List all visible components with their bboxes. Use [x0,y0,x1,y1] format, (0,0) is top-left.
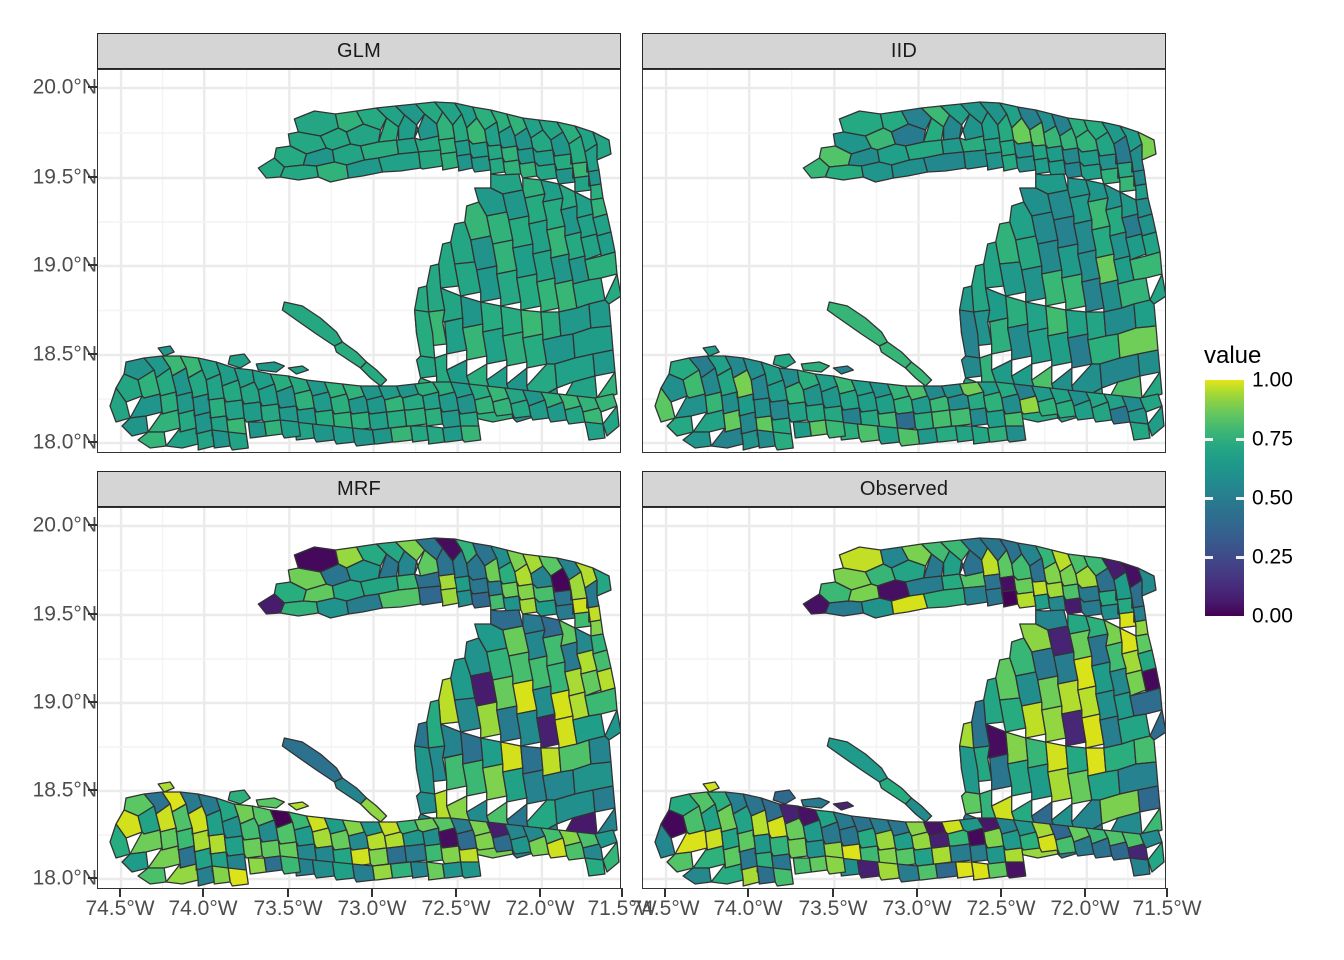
x-axis-tick-mark [1166,888,1168,897]
x-axis-right-column: 74.5°W74.0°W73.5°W73.0°W72.5°W72.0°W71.5… [0,0,1344,960]
legend-tick-label: 0.50 [1252,488,1293,509]
legend: value [1202,344,1342,618]
x-axis-tick-mark [1084,888,1086,897]
x-axis-tick-mark [747,888,749,897]
legend-tick-label: 0.00 [1252,606,1293,627]
legend-tick-label: 0.75 [1252,429,1293,450]
x-axis-tick-label: 73.5°W [798,898,867,919]
x-axis-tick-mark [1000,888,1002,897]
x-axis-tick-label: 71.5°W [1132,898,1201,919]
legend-tick-mark [1236,438,1244,441]
x-axis-tick-mark [832,888,834,897]
x-axis-tick-label: 74.5°W [630,898,699,919]
legend-tick-mark [1236,556,1244,559]
legend-title: value [1204,344,1342,368]
x-axis-tick-label: 72.0°W [1050,898,1119,919]
legend-tick-mark [1236,497,1244,500]
figure-root: 20.0°N19.5°N19.0°N18.5°N18.0°N 20.0°N19.… [0,0,1344,960]
legend-tick-mark [1205,556,1213,559]
legend-tick-mark [1205,438,1213,441]
x-axis-tick-label: 73.0°W [882,898,951,919]
legend-tick-mark [1205,497,1213,500]
legend-tick-label: 1.00 [1252,370,1293,391]
x-axis-tick-mark [664,888,666,897]
x-axis-tick-label: 74.0°W [713,898,782,919]
x-axis-tick-mark [916,888,918,897]
x-axis-tick-label: 72.5°W [966,898,1035,919]
legend-colorbar-wrap: 1.000.750.500.250.00 [1202,380,1334,618]
legend-tick-label: 0.25 [1252,547,1293,568]
